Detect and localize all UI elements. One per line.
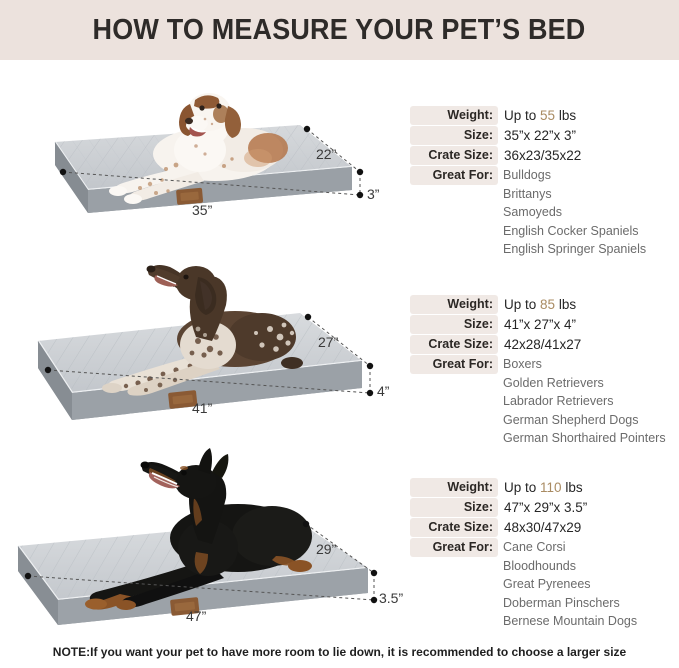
- value-weight: Up to 85 lbs: [503, 295, 666, 314]
- dimension-height-medium: 4”: [377, 383, 389, 399]
- page-title: HOW TO MEASURE YOUR PET’S BED: [93, 14, 586, 47]
- dimension-depth-large: 29”: [316, 541, 336, 557]
- weight-suffix: lbs: [562, 480, 583, 495]
- value-weight: Up to 110 lbs: [503, 478, 637, 497]
- label-weight: Weight:: [410, 106, 498, 125]
- weight-number: 55: [540, 108, 555, 123]
- dimension-height-small: 3”: [367, 186, 379, 202]
- value-weight: Up to 55 lbs: [503, 106, 646, 125]
- dimension-height-large: 3.5”: [379, 590, 403, 606]
- label-crate-size: Crate Size:: [410, 518, 498, 537]
- list-item: Great Pyrenees: [503, 575, 637, 594]
- dimension-width-medium: 41”: [192, 400, 212, 416]
- label-size: Size:: [410, 126, 498, 145]
- value-size: 41”x 27”x 4”: [503, 315, 666, 334]
- weight-prefix: Up to: [504, 108, 540, 123]
- value-crate-size: 48x30/47x29: [503, 518, 637, 537]
- list-item: Bloodhounds: [503, 557, 637, 576]
- label-great-for: Great For:: [410, 166, 498, 185]
- label-great-for: Great For:: [410, 355, 498, 374]
- label-crate-size: Crate Size:: [410, 335, 498, 354]
- weight-suffix: lbs: [555, 297, 576, 312]
- dimension-width-large: 47”: [186, 608, 206, 624]
- value-size: 35”x 22”x 3”: [503, 126, 646, 145]
- label-crate-size: Crate Size:: [410, 146, 498, 165]
- label-size: Size:: [410, 315, 498, 334]
- size-section-small: 22” 3” 35” Weight: Up to 55 lbs Size: 35…: [0, 62, 679, 237]
- label-great-for: Great For:: [410, 538, 498, 557]
- label-weight: Weight:: [410, 478, 498, 497]
- label-weight: Weight:: [410, 295, 498, 314]
- spec-table-medium: Weight: Up to 85 lbs Size: 41”x 27”x 4” …: [410, 295, 666, 448]
- weight-number: 85: [540, 297, 555, 312]
- bed-illustration-large: 29” 3.5” 47”: [0, 428, 400, 640]
- size-section-medium: 27” 4” 41” Weight: Up to 85 lbs Size: 41…: [0, 233, 679, 433]
- list-item: Labrador Retrievers: [503, 392, 666, 411]
- label-size: Size:: [410, 498, 498, 517]
- list-item: Brittanys: [503, 185, 646, 204]
- weight-suffix: lbs: [555, 108, 576, 123]
- bed-illustration-medium: 27” 4” 41”: [0, 233, 400, 433]
- value-crate-size: 36x23/35x22: [503, 146, 646, 165]
- weight-number: 110: [540, 480, 562, 495]
- size-section-large: 29” 3.5” 47” Weight: Up to 110 lbs Size:…: [0, 428, 679, 640]
- list-item: Boxers: [503, 355, 666, 374]
- weight-prefix: Up to: [504, 297, 540, 312]
- bed-illustration-small: 22” 3” 35”: [0, 62, 400, 237]
- page-header: HOW TO MEASURE YOUR PET’S BED: [0, 0, 679, 60]
- dimension-depth-small: 22”: [316, 146, 336, 162]
- breed-list: Cane Corsi Bloodhounds Great Pyrenees Do…: [503, 538, 637, 631]
- weight-prefix: Up to: [504, 480, 540, 495]
- list-item: Doberman Pinschers: [503, 594, 637, 613]
- list-item: Bernese Mountain Dogs: [503, 612, 637, 631]
- value-size: 47”x 29”x 3.5”: [503, 498, 637, 517]
- list-item: Golden Retrievers: [503, 374, 666, 393]
- value-crate-size: 42x28/41x27: [503, 335, 666, 354]
- list-item: Cane Corsi: [503, 538, 637, 557]
- dimension-depth-medium: 27”: [318, 334, 338, 350]
- footer-note: NOTE:If you want your pet to have more r…: [0, 645, 679, 659]
- spec-table-large: Weight: Up to 110 lbs Size: 47”x 29”x 3.…: [410, 478, 637, 631]
- dimension-width-small: 35”: [192, 202, 212, 218]
- list-item: Samoyeds: [503, 203, 646, 222]
- list-item: Bulldogs: [503, 166, 646, 185]
- list-item: German Shepherd Dogs: [503, 411, 666, 430]
